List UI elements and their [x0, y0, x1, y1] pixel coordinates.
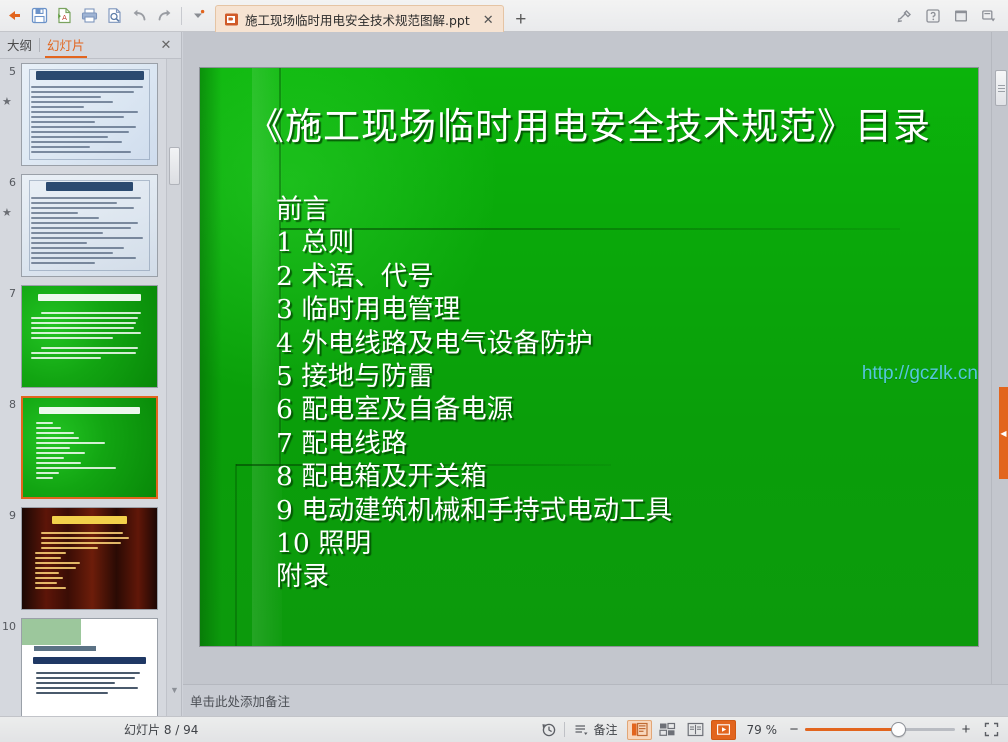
toolbar-divider: [181, 7, 182, 25]
status-bar-right: 备注: [537, 719, 1008, 740]
animation-star-icon: ★: [2, 206, 12, 219]
panel-tab-bar: 大纲 幻灯片 ✕: [0, 32, 181, 59]
customize-qat-button[interactable]: [186, 3, 211, 29]
title-bar: A: [0, 0, 1008, 32]
document-tab[interactable]: 施工现场临时用电安全技术规范图解.ppt ✕: [215, 5, 504, 34]
save-button[interactable]: [27, 3, 52, 29]
top-right-toolbar: [892, 3, 1008, 29]
status-bar: 幻灯片 8 / 94 备注: [0, 716, 1008, 742]
powerpoint-icon: [224, 12, 239, 27]
slide-editing-area: 《施工现场临时用电安全技术规范》目录 前言 1 总则 2 术语、代号 3 临时用…: [183, 32, 1008, 684]
view-reading-button[interactable]: [683, 720, 708, 740]
slide-list-item: 3 临时用电管理: [276, 293, 954, 326]
slide-list-item: 4 外电线路及电气设备防护: [276, 327, 954, 360]
thumbnail-slide-8-selected[interactable]: [21, 396, 158, 499]
new-tab-button[interactable]: +: [508, 7, 534, 33]
zoom-slider-fill: [805, 728, 895, 731]
history-icon[interactable]: [537, 720, 561, 740]
slide-list-item: 2 术语、代号: [276, 260, 954, 293]
current-slide[interactable]: 《施工现场临时用电安全技术规范》目录 前言 1 总则 2 术语、代号 3 临时用…: [200, 68, 978, 646]
svg-text:A: A: [62, 14, 67, 22]
thumbnail-number: 7: [0, 285, 16, 300]
thumbnail-scroll-area[interactable]: 5 ★: [0, 59, 182, 716]
chevron-down-icon[interactable]: ▼: [167, 682, 182, 698]
export-pdf-button[interactable]: A: [52, 3, 77, 29]
list-item[interactable]: 5 ★: [0, 59, 166, 170]
status-divider: [564, 722, 565, 737]
redo-button[interactable]: [152, 3, 177, 29]
slide-list-item: 附录: [276, 560, 954, 593]
slide-content-list[interactable]: 前言 1 总则 2 术语、代号 3 临时用电管理 4 外电线路及电气设备防护 5…: [276, 193, 954, 594]
slide-list-item: 5 接地与防雷: [276, 360, 954, 393]
thumbnail-number: 10: [0, 618, 16, 633]
thumbnail-number: 5: [0, 63, 16, 78]
zoom-out-button[interactable]: −: [786, 721, 802, 739]
help-icon[interactable]: [920, 3, 946, 29]
slide-list-item: 7 配电线路: [276, 427, 954, 460]
list-item[interactable]: 7: [0, 281, 166, 392]
fit-to-window-icon[interactable]: [981, 720, 1001, 740]
list-item[interactable]: 8: [0, 392, 166, 503]
animation-star-icon: ★: [2, 95, 12, 108]
panel-close-icon[interactable]: ✕: [155, 34, 177, 56]
more-menu-icon[interactable]: [976, 3, 1002, 29]
thumbnail-scrollbar[interactable]: ▼: [166, 59, 181, 716]
slide-list-item: 前言: [276, 193, 954, 226]
notes-toggle-button[interactable]: 备注: [568, 719, 623, 740]
slide-list-item: 10 照明: [276, 527, 954, 560]
thumbnail-number: 8: [0, 396, 16, 411]
slide-list-item: 8 配电箱及开关箱: [276, 460, 954, 493]
slide-list-item: 6 配电室及自备电源: [276, 393, 954, 426]
list-item[interactable]: 9: [0, 503, 166, 614]
quick-access-toolbar: A: [0, 0, 211, 32]
view-slideshow-button[interactable]: [711, 720, 736, 740]
view-normal-button[interactable]: [627, 720, 652, 740]
tab-outline[interactable]: 大纲: [0, 31, 39, 59]
slide-left-shade: [200, 68, 222, 646]
list-item[interactable]: 10: [0, 614, 166, 716]
slide-list-item: 9 电动建筑机械和手持式电动工具: [276, 494, 954, 527]
slide-decor-vline-bottom: [235, 464, 237, 646]
print-preview-button[interactable]: [102, 3, 127, 29]
thumbnail-number: 6: [0, 174, 16, 189]
tab-slides[interactable]: 幻灯片: [40, 31, 92, 59]
document-tab-strip: 施工现场临时用电安全技术规范图解.ppt ✕ +: [215, 0, 534, 32]
leading-orange-icon[interactable]: [2, 3, 27, 29]
notes-icon: [574, 723, 589, 737]
slide-vertical-scrollbar[interactable]: ◀: [991, 32, 1008, 684]
list-item[interactable]: 6 ★: [0, 170, 166, 281]
thumbnail-list: 5 ★: [0, 59, 166, 716]
undo-button[interactable]: [127, 3, 152, 29]
collapse-panel-tab[interactable]: ◀: [999, 387, 1008, 479]
scrollbar-thumb[interactable]: [995, 70, 1007, 106]
slide-title[interactable]: 《施工现场临时用电安全技术规范》目录: [200, 96, 978, 150]
zoom-slider[interactable]: [805, 721, 955, 739]
close-icon[interactable]: ✕: [480, 11, 497, 28]
print-button[interactable]: [77, 3, 102, 29]
zoom-slider-handle[interactable]: [891, 722, 906, 737]
tools-icon[interactable]: [892, 3, 918, 29]
notes-pane[interactable]: 单击此处添加备注: [183, 684, 1008, 716]
watermark-url: http://gczlk.cn: [862, 363, 978, 385]
thumbnail-slide-7[interactable]: [21, 285, 158, 388]
slide-thumbnail-panel: 大纲 幻灯片 ✕ 5 ★: [0, 32, 182, 716]
view-sorter-button[interactable]: [655, 720, 680, 740]
thumbnail-slide-10[interactable]: [21, 618, 158, 716]
zoom-in-button[interactable]: +: [958, 721, 974, 739]
slide-counter: 幻灯片 8 / 94: [124, 721, 198, 738]
thumbnail-number: 9: [0, 507, 16, 522]
thumbnail-scrollbar-thumb[interactable]: [169, 147, 180, 185]
thumbnail-slide-6[interactable]: [21, 174, 158, 277]
wps-presentation-window: A: [0, 0, 1008, 742]
thumbnail-slide-5[interactable]: [21, 63, 158, 166]
zoom-level-label: 79 %: [747, 723, 778, 737]
window-icon[interactable]: [948, 3, 974, 29]
thumbnail-slide-9[interactable]: [21, 507, 158, 610]
notes-button-label: 备注: [593, 721, 617, 738]
document-tab-title: 施工现场临时用电安全技术规范图解.ppt: [245, 10, 470, 29]
notes-placeholder: 单击此处添加备注: [190, 691, 290, 710]
slide-list-item: 1 总则: [276, 226, 954, 259]
